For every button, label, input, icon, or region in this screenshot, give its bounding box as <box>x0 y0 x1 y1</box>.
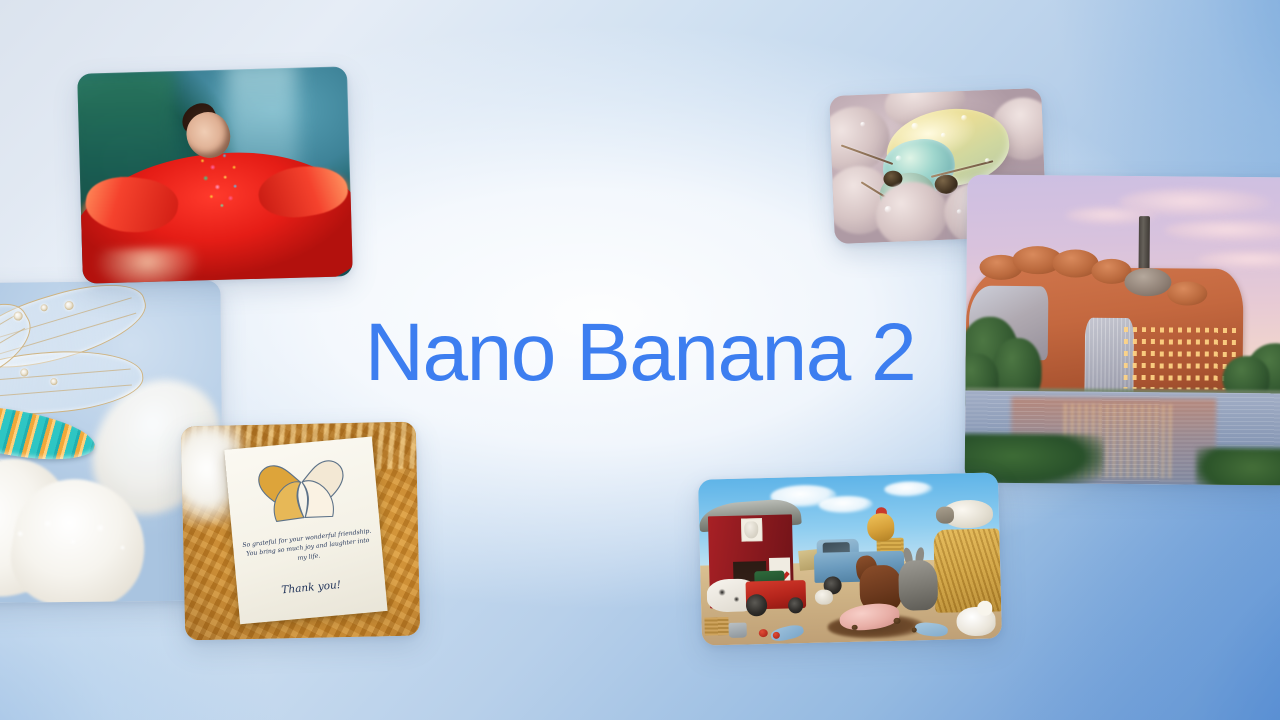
dewdrop <box>984 158 989 163</box>
foreground-foliage <box>1196 448 1280 486</box>
goose-head <box>977 600 992 615</box>
dirt-clod <box>893 618 900 625</box>
gallery-card-folk-dancer[interactable] <box>77 66 353 283</box>
thank-you-card-photo: So grateful for your wonderful friendshi… <box>181 422 420 641</box>
hem-highlight <box>93 247 202 284</box>
goat-in-window <box>744 521 758 538</box>
grey-donkey <box>898 560 938 611</box>
metal-bucket <box>729 623 747 638</box>
lace-texture <box>1 499 140 584</box>
card-message-text: So grateful for your wonderful friendshi… <box>240 527 377 570</box>
roof-blob <box>1168 281 1208 306</box>
dirt-clod <box>912 627 918 632</box>
dewdrop <box>911 122 918 129</box>
gallery-card-claymation-farm[interactable] <box>698 472 1002 645</box>
dewdrop <box>860 121 865 126</box>
page-title: Nano Banana 2 <box>0 312 1280 394</box>
chicken <box>867 513 895 542</box>
roof-dome-grey <box>1125 268 1171 296</box>
gallery-card-thank-you-note[interactable]: So grateful for your wonderful friendshi… <box>181 422 420 641</box>
haystack <box>933 529 1001 614</box>
sheep-head <box>936 507 954 524</box>
card-signoff-text: Thank you! <box>237 575 386 600</box>
dewdrop <box>895 156 901 162</box>
wooden-crate <box>704 617 728 636</box>
hen <box>815 589 833 604</box>
greeting-card-paper: So grateful for your wonderful friendshi… <box>225 437 388 625</box>
tractor-wheel <box>746 594 768 616</box>
hero-stage: So grateful for your wonderful friendshi… <box>0 0 1280 720</box>
folk-dancer-photo <box>77 66 353 283</box>
heart-hands-illustration <box>242 450 363 530</box>
claymation-farm-photo <box>698 472 1002 645</box>
